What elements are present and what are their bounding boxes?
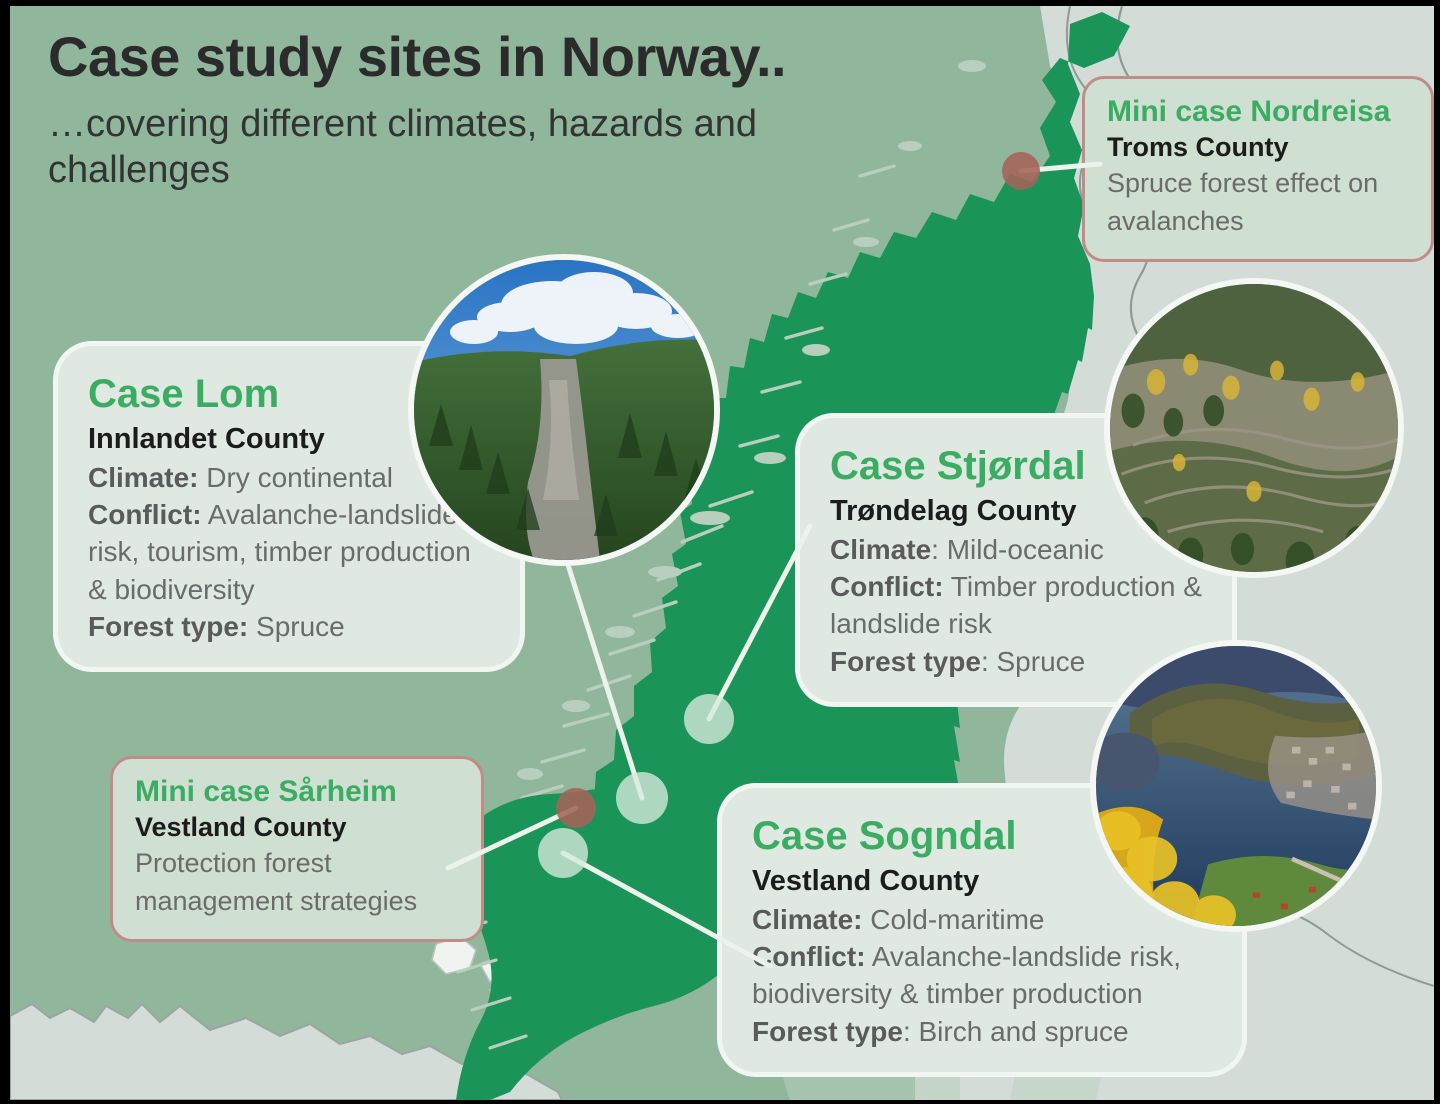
mini-case-title-sarheim: Mini case Sårheim [135,775,459,809]
case-conflict-stjordal: Conflict: Timber production & landslide … [830,568,1202,642]
slide-canvas: Case study sites in Norway.. …covering d… [10,6,1434,1100]
mini-case-card-sarheim[interactable]: Mini case Sårheim Vestland County Protec… [110,756,484,942]
photo-sogndal-fjord [1090,640,1382,932]
map-marker-nordreisa[interactable] [1002,152,1040,190]
conflict-label: Conflict: [752,941,866,972]
case-conflict-sogndal: Conflict: Avalanche-landslide risk, biod… [752,938,1212,1012]
mini-case-desc-sarheim: Protection forest management strategies [135,845,459,921]
climate-value: Dry continental [198,462,393,493]
photo-lom-landslide-slope [408,254,720,566]
map-marker-sogndal[interactable] [538,828,588,878]
photo-stjordal-clearcut [1104,278,1404,578]
case-forest-sogndal: Forest type: Birch and spruce [752,1013,1212,1050]
forest-value: : Birch and spruce [903,1016,1129,1047]
mini-case-county-sarheim: Vestland County [135,810,459,845]
mini-case-desc-nordreisa: Spruce forest effect on avalanches [1107,165,1409,241]
climate-value: : Mild-oceanic [931,534,1104,565]
case-forest-lom: Forest type: Spruce [88,608,490,645]
mini-case-card-nordreisa[interactable]: Mini case Nordreisa Troms County Spruce … [1082,76,1434,262]
conflict-label: Conflict: [830,571,944,602]
page-title: Case study sites in Norway.. [48,28,928,87]
case-conflict-lom: Conflict: Avalanche-landslide risk, tour… [88,496,490,608]
climate-value: Cold-maritime [862,904,1044,935]
map-marker-lom[interactable] [616,772,668,824]
case-climate-stjordal: Climate: Mild-oceanic [830,531,1202,568]
norway-south-landmass [456,778,764,1100]
title-block: Case study sites in Norway.. …covering d… [48,28,928,194]
map-marker-sarheim[interactable] [556,788,596,828]
forest-label: Forest type [830,646,981,677]
climate-label: Climate [830,534,931,565]
climate-label: Climate: [752,904,862,935]
map-marker-stjordal[interactable] [684,694,734,744]
mini-case-county-nordreisa: Troms County [1107,130,1409,165]
page-subtitle: …covering different climates, hazards an… [48,101,928,194]
climate-label: Climate: [88,462,198,493]
case-climate-sogndal: Climate: Cold-maritime [752,901,1212,938]
forest-label: Forest type [752,1016,903,1047]
forest-value: : Spruce [981,646,1085,677]
mini-case-title-nordreisa: Mini case Nordreisa [1107,95,1409,129]
forest-label: Forest type: [88,611,248,642]
conflict-label: Conflict: [88,499,202,530]
forest-value: Spruce [248,611,345,642]
